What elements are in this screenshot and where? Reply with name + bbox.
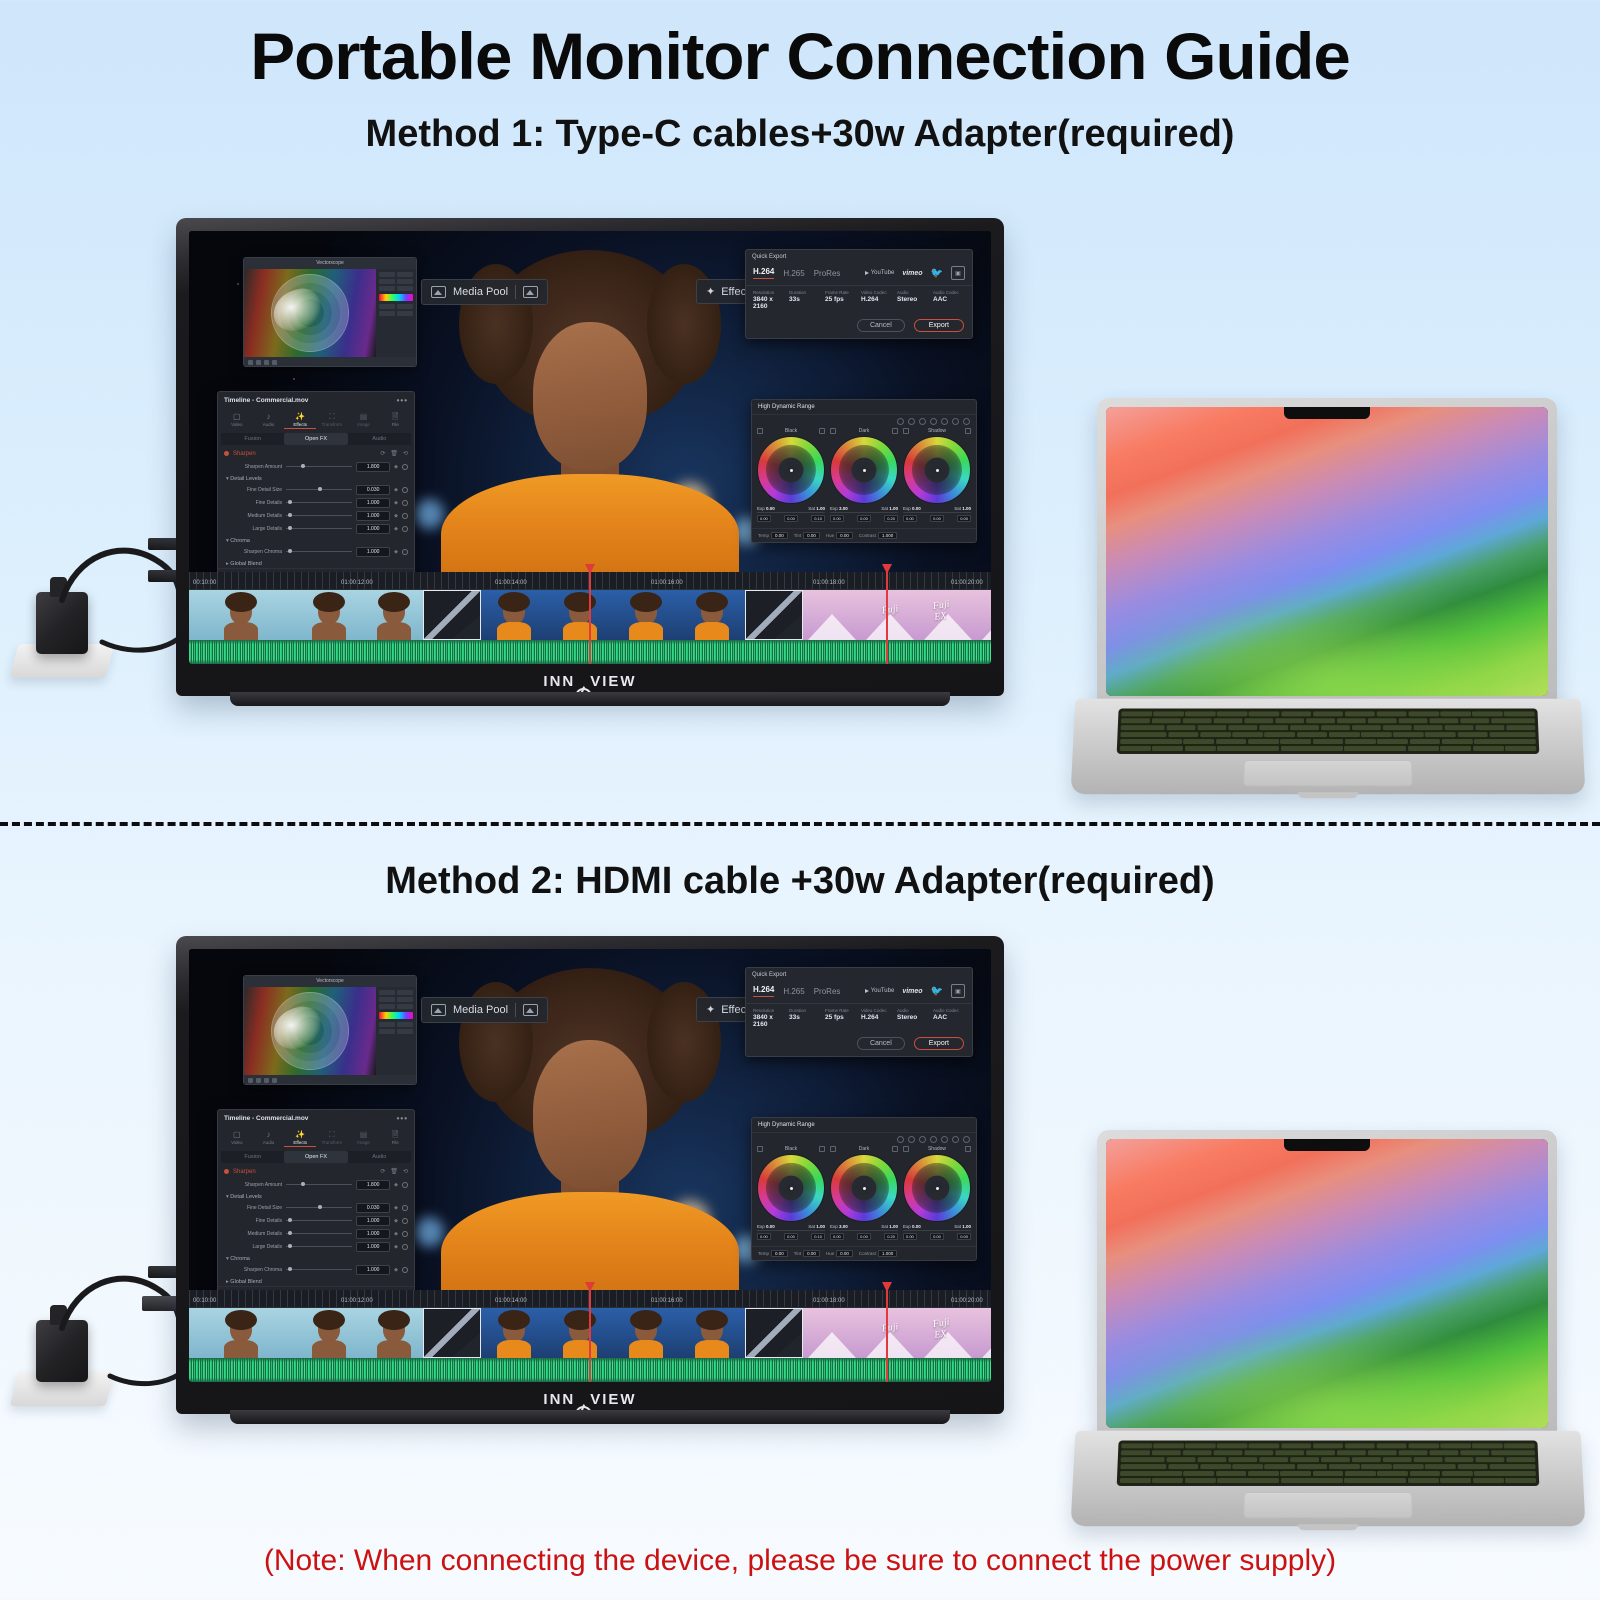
- param-sharpen-chroma[interactable]: Sharpen Chroma 1.000 ◆: [218, 545, 414, 558]
- inspector-tab-effects[interactable]: ✨ Effects: [284, 1129, 316, 1147]
- timecode: 01:00:20:00: [951, 1298, 983, 1304]
- inspector-panel[interactable]: Timeline - Commercial.mov ••• ▢ Video ♪ …: [217, 391, 415, 587]
- timeline-panel[interactable]: 00:10:00 01:00:12:00 01:00:14:00 01:00:1…: [189, 572, 991, 664]
- spec-resolution: Resolution 3840 x 2160: [753, 1008, 785, 1028]
- keyframe-icon[interactable]: ◆: [394, 464, 398, 470]
- effect-keyframe-icon[interactable]: ⟳: [380, 1168, 385, 1175]
- color-wheel-ring[interactable]: [830, 436, 898, 504]
- laptop-trackpad-2[interactable]: [1243, 1492, 1412, 1518]
- wheel-b-value[interactable]: 0.20: [884, 515, 898, 522]
- timeline-clip[interactable]: Fuji: [861, 590, 919, 640]
- effect-keyframe-icon[interactable]: ⟳: [380, 450, 385, 457]
- color-wheel-shadow[interactable]: Shadow Exp 0.00 Sat 1.00 0.00 0.00: [903, 428, 971, 524]
- vimeo-icon[interactable]: vimeo: [902, 988, 922, 995]
- quick-export-title: Quick Export: [746, 968, 972, 981]
- timeline-clip[interactable]: [189, 590, 293, 640]
- group-chroma[interactable]: Chroma: [218, 535, 414, 545]
- wheel-g-value[interactable]: 0.00: [930, 1233, 944, 1240]
- spec-video-codec: Video Codec H.264: [861, 1008, 893, 1028]
- timeline-clip[interactable]: [679, 590, 745, 640]
- hdr-tool-icon[interactable]: [952, 418, 959, 425]
- wheel-lock-icon[interactable]: [830, 428, 836, 434]
- group-global-blend[interactable]: Global Blend: [218, 1276, 414, 1286]
- subtab-audio[interactable]: Audio: [348, 1151, 411, 1163]
- vectorscope-title: Vectorscope: [244, 976, 416, 987]
- color-wheel-ring[interactable]: [757, 436, 825, 504]
- inspector-tab-effects[interactable]: ✨ Effects: [284, 411, 316, 429]
- video-icon: ▢: [221, 1129, 253, 1140]
- timeline-playhead-secondary[interactable]: [886, 1286, 888, 1382]
- quick-export-panel[interactable]: Quick Export H.264 H.265 ProRes YouTube …: [745, 249, 973, 339]
- hdr-tool-icon[interactable]: [963, 1136, 970, 1143]
- wheel-name: Shadow: [928, 1146, 946, 1152]
- wheel-lock-icon[interactable]: [903, 1146, 909, 1152]
- media-pool-button[interactable]: Media Pool: [421, 997, 548, 1023]
- param-fine-details[interactable]: Fine Details 1.000 ◆: [218, 496, 414, 509]
- youtube-icon[interactable]: YouTube: [865, 988, 895, 994]
- inspector-tab-image[interactable]: ▤ Image: [348, 411, 380, 429]
- timeline-clip[interactable]: [613, 1308, 679, 1358]
- reset-icon[interactable]: [402, 513, 408, 519]
- export-format-prores[interactable]: ProRes: [814, 987, 841, 996]
- spec-video-codec: Video Codec H.264: [861, 290, 893, 310]
- color-wheel-shadow[interactable]: Shadow Exp 0.00 Sat 1.00 0.00 0.00: [903, 1146, 971, 1242]
- media-pool-button[interactable]: Media Pool: [421, 279, 548, 305]
- wheel-g-value[interactable]: 0.00: [857, 1233, 871, 1240]
- color-wheel-ring[interactable]: [903, 436, 971, 504]
- hdr-hue: Hue0.00: [826, 1251, 853, 1256]
- spec-resolution: Resolution 3840 x 2160: [753, 290, 785, 310]
- spec-duration: Duration 33s: [789, 290, 821, 310]
- wheel-reset-icon[interactable]: [965, 1146, 971, 1152]
- hdr-hue: Hue0.00: [826, 533, 853, 538]
- media-pool-label: Media Pool: [453, 1004, 508, 1016]
- timeline-clip[interactable]: [293, 590, 365, 640]
- wheel-r-value[interactable]: 0.00: [830, 515, 844, 522]
- quick-export-panel[interactable]: Quick Export H.264 H.265 ProRes YouTube …: [745, 967, 973, 1057]
- wheel-r-value[interactable]: 0.00: [757, 1233, 771, 1240]
- keyframe-icon[interactable]: ◆: [394, 487, 398, 493]
- inspector-tab-transform[interactable]: ⛶ Transform: [316, 411, 348, 429]
- inspector-tab-video[interactable]: ▢ Video: [221, 1129, 253, 1147]
- subtab-audio[interactable]: Audio: [348, 433, 411, 445]
- keyframe-icon[interactable]: ◆: [394, 549, 398, 555]
- timeline-clip[interactable]: Fuji EX: [919, 1308, 977, 1358]
- wheel-reset-icon[interactable]: [965, 428, 971, 434]
- hdr-panel[interactable]: High Dynamic Range: [751, 399, 977, 543]
- reset-icon[interactable]: [402, 1231, 408, 1237]
- effect-delete-icon[interactable]: 🗑: [390, 1168, 398, 1175]
- export-format-h265[interactable]: H.265: [783, 987, 804, 996]
- media-pool-secondary-icon: [523, 1004, 538, 1016]
- export-button[interactable]: Export: [914, 1037, 964, 1050]
- monitor-brand-logo: INNVIEW: [176, 1391, 1004, 1408]
- group-chroma[interactable]: Chroma: [218, 1253, 414, 1263]
- slider-track[interactable]: [286, 466, 352, 467]
- param-large-details[interactable]: Large Details 1.000 ◆: [218, 1240, 414, 1253]
- group-detail-levels[interactable]: Detail Levels: [218, 473, 414, 483]
- wheel-reset-icon[interactable]: [819, 1146, 825, 1152]
- hdr-tool-icon[interactable]: [919, 418, 926, 425]
- inspector-tab-audio[interactable]: ♪ Audio: [253, 411, 285, 429]
- export-specs: Resolution 3840 x 2160 Duration 33s Fram…: [746, 285, 972, 315]
- wheel-b-value[interactable]: 0.00: [957, 1233, 971, 1240]
- timeline-clip[interactable]: [547, 590, 613, 640]
- spec-audio-codec: Audio Codec AAC: [933, 290, 965, 310]
- hdr-tint: Tint0.00: [794, 1251, 820, 1256]
- hdr-toolbar[interactable]: [752, 1133, 976, 1146]
- wheel-name: Dark: [859, 428, 870, 434]
- hdr-tool-icon[interactable]: [941, 418, 948, 425]
- wheel-name: Shadow: [928, 428, 946, 434]
- reset-icon[interactable]: [402, 1205, 408, 1211]
- subtab-openfx[interactable]: Open FX: [284, 433, 347, 445]
- youtube-icon[interactable]: YouTube: [865, 270, 895, 276]
- laptop-notch: [1284, 1139, 1370, 1151]
- color-wheel-black[interactable]: Black Exp 0.00 Sat 1.00 0.00 0.00: [757, 1146, 825, 1242]
- laptop-screen-1: [1106, 407, 1548, 696]
- reset-icon[interactable]: [402, 500, 408, 506]
- inspector-tab-transform[interactable]: ⛶ Transform: [316, 1129, 348, 1147]
- hdr-tool-icon[interactable]: [897, 1136, 904, 1143]
- timecode: 00:10:00: [193, 580, 216, 586]
- hdr-tool-icon[interactable]: [963, 418, 970, 425]
- wheel-name: Black: [785, 1146, 797, 1152]
- wheel-reset-icon[interactable]: [892, 1146, 898, 1152]
- export-button[interactable]: Export: [914, 319, 964, 332]
- wheel-b-value[interactable]: 0.10: [811, 1233, 825, 1240]
- timeline-clip[interactable]: [365, 1308, 423, 1358]
- subtab-openfx[interactable]: Open FX: [284, 1151, 347, 1163]
- timeline-panel[interactable]: 00:10:00 01:00:12:00 01:00:14:00 01:00:1…: [189, 1290, 991, 1382]
- timeline-clip[interactable]: [365, 590, 423, 640]
- timeline-clip[interactable]: [803, 1308, 861, 1358]
- effect-reset-icon[interactable]: ⟲: [403, 450, 408, 457]
- subtab-fusion[interactable]: Fusion: [221, 1151, 284, 1163]
- hdr-panel[interactable]: High Dynamic Range: [751, 1117, 977, 1261]
- inspector-panel[interactable]: Timeline - Commercial.mov ••• ▢ Video ♪ …: [217, 1109, 415, 1305]
- hdr-tool-icon[interactable]: [908, 418, 915, 425]
- timeline-playhead[interactable]: [589, 568, 591, 664]
- wheel-r-value[interactable]: 0.00: [830, 1233, 844, 1240]
- laptop-keyboard-1[interactable]: [1117, 708, 1540, 753]
- param-medium-details[interactable]: Medium Details 1.000 ◆: [218, 1227, 414, 1240]
- inspector-tab-audio[interactable]: ♪ Audio: [253, 1129, 285, 1147]
- reset-icon[interactable]: [402, 1182, 408, 1188]
- hdr-contrast: Contrast1.000: [859, 533, 897, 538]
- timecode: 01:00:20:00: [951, 580, 983, 586]
- transform-icon: ⛶: [316, 411, 348, 422]
- keyframe-icon[interactable]: ◆: [394, 500, 398, 506]
- reset-icon[interactable]: [402, 1244, 408, 1250]
- timeline-clip[interactable]: [803, 590, 861, 640]
- hdr-tool-icon[interactable]: [919, 1136, 926, 1143]
- hdr-title: High Dynamic Range: [752, 1118, 976, 1133]
- wheel-g-value[interactable]: 0.00: [784, 1233, 798, 1240]
- inspector-menu-icon[interactable]: •••: [397, 396, 408, 405]
- wheel-b-value[interactable]: 0.20: [884, 1233, 898, 1240]
- hdr-tool-icon[interactable]: [952, 1136, 959, 1143]
- color-wheel-ring[interactable]: [757, 1154, 825, 1222]
- keyframe-icon[interactable]: ◆: [394, 526, 398, 532]
- color-wheel-black[interactable]: Black Exp 0.00 Sat 1.00 0.00 0.00: [757, 428, 825, 524]
- hdr-footer[interactable]: Temp0.00 Tint0.00 Hue0.00 Contrast1.000: [752, 528, 976, 542]
- file-icon: 🗎: [379, 1129, 411, 1140]
- param-medium-details[interactable]: Medium Details 1.000 ◆: [218, 509, 414, 522]
- monitor-stand-2: [230, 1410, 950, 1424]
- timecode: 01:00:18:00: [813, 1298, 845, 1304]
- color-wheel-dark[interactable]: Dark Exp 3.00 Sat 1.00 0.00 0.00: [830, 1146, 898, 1242]
- inspector-title: Timeline - Commercial.mov: [224, 1115, 308, 1122]
- inspector-tab-file[interactable]: 🗎 File: [379, 1129, 411, 1147]
- slider-track[interactable]: [286, 502, 352, 503]
- vectorscope-controls[interactable]: [376, 987, 416, 1075]
- keyframe-icon[interactable]: ◆: [394, 1205, 398, 1211]
- wheel-reset-icon[interactable]: [892, 428, 898, 434]
- hdr-contrast: Contrast1.000: [859, 1251, 897, 1256]
- effect-header-sharpen[interactable]: Sharpen ⟳ 🗑 ⟲: [218, 1163, 414, 1178]
- timeline-clip[interactable]: [679, 1308, 745, 1358]
- twitter-icon[interactable]: 🐦: [931, 268, 943, 279]
- magic-wand-icon: ✦: [706, 1003, 715, 1016]
- slider-track[interactable]: [286, 1184, 352, 1185]
- wheel-r-value[interactable]: 0.00: [903, 515, 917, 522]
- reset-icon[interactable]: [402, 549, 408, 555]
- timeline-clip[interactable]: Fuji: [861, 1308, 919, 1358]
- media-pool-label: Media Pool: [453, 286, 508, 298]
- param-fine-details[interactable]: Fine Details 1.000 ◆: [218, 1214, 414, 1227]
- page-title: Portable Monitor Connection Guide: [0, 0, 1600, 91]
- method-2-scene: Vectorscope: [0, 918, 1600, 1518]
- audio-icon: ♪: [253, 411, 285, 422]
- spec-duration: Duration 33s: [789, 1008, 821, 1028]
- slider-track[interactable]: [286, 551, 352, 552]
- laptop-keyboard-2[interactable]: [1117, 1440, 1540, 1485]
- spec-audio-codec: Audio Codec AAC: [933, 1008, 965, 1028]
- hdr-toolbar[interactable]: [752, 415, 976, 428]
- timeline-transition[interactable]: [745, 590, 803, 640]
- slider-track[interactable]: [286, 1207, 352, 1208]
- media-pool-secondary-icon: [523, 286, 538, 298]
- spec-audio: Audio Stereo: [897, 1008, 929, 1028]
- inspector-tab-video[interactable]: ▢ Video: [221, 411, 253, 429]
- inspector-title: Timeline - Commercial.mov: [224, 397, 308, 404]
- export-specs: Resolution 3840 x 2160 Duration 33s Fram…: [746, 1003, 972, 1033]
- slider-track[interactable]: [286, 1220, 352, 1221]
- export-box-icon[interactable]: ▣: [951, 266, 965, 280]
- section-divider: [0, 822, 1600, 826]
- laptop-screen-2: [1106, 1139, 1548, 1428]
- laptop-1: [1073, 398, 1583, 798]
- media-pool-icon: [431, 1004, 446, 1016]
- method-2-title: Method 2: HDMI cable +30w Adapter(requir…: [0, 860, 1600, 903]
- timeline-transition[interactable]: [423, 1308, 481, 1358]
- timeline-clip[interactable]: [613, 590, 679, 640]
- vectorscope-controls[interactable]: [376, 269, 416, 357]
- vectorscope-window[interactable]: Vectorscope: [243, 257, 417, 367]
- param-fine-detail-size[interactable]: Fine Detail Size 0.030 ◆: [218, 483, 414, 496]
- reset-icon[interactable]: [402, 526, 408, 532]
- laptop-2: [1073, 1130, 1583, 1530]
- spec-framerate: Frame Rate 25 fps: [825, 290, 857, 310]
- wheel-lock-icon[interactable]: [830, 1146, 836, 1152]
- timeline-playhead-secondary[interactable]: [886, 568, 888, 664]
- timeline-playhead[interactable]: [589, 1286, 591, 1382]
- hdr-tool-icon[interactable]: [930, 1136, 937, 1143]
- cancel-button[interactable]: Cancel: [857, 1037, 905, 1050]
- param-fine-detail-size[interactable]: Fine Detail Size 0.030 ◆: [218, 1201, 414, 1214]
- method-1-scene: Vectorscope: [0, 200, 1600, 800]
- inspector-tab-file[interactable]: 🗎 File: [379, 411, 411, 429]
- timeline-transition[interactable]: [423, 590, 481, 640]
- spec-framerate: Frame Rate 25 fps: [825, 1008, 857, 1028]
- twitter-icon[interactable]: 🐦: [931, 986, 943, 997]
- quick-export-title: Quick Export: [746, 250, 972, 263]
- timeline-clip[interactable]: [481, 590, 547, 640]
- laptop-base-1: [1071, 699, 1586, 794]
- effect-header-sharpen[interactable]: Sharpen ⟳ 🗑 ⟲: [218, 445, 414, 460]
- portable-monitor-1: Vectorscope: [176, 218, 1004, 696]
- effects-label: Effec: [721, 1004, 746, 1016]
- timeline-clip[interactable]: [547, 1308, 613, 1358]
- laptop-lid-1: [1097, 398, 1557, 708]
- wheel-lock-icon[interactable]: [903, 428, 909, 434]
- subtab-fusion[interactable]: Fusion: [221, 433, 284, 445]
- param-large-details[interactable]: Large Details 1.000 ◆: [218, 522, 414, 535]
- timecode: 01:00:14:00: [495, 1298, 527, 1304]
- wheel-r-value[interactable]: 0.00: [757, 515, 771, 522]
- timecode: 01:00:14:00: [495, 580, 527, 586]
- keyframe-icon[interactable]: ◆: [394, 1267, 398, 1273]
- wheel-reset-icon[interactable]: [819, 428, 825, 434]
- export-box-icon[interactable]: ▣: [951, 984, 965, 998]
- media-pool-icon: [431, 286, 446, 298]
- timeline-clip[interactable]: [481, 1308, 547, 1358]
- method-1-title: Method 1: Type-C cables+30w Adapter(requ…: [0, 113, 1600, 156]
- color-wheel-ring[interactable]: [830, 1154, 898, 1222]
- reset-icon[interactable]: [402, 1218, 408, 1224]
- audio-icon: ♪: [253, 1129, 285, 1140]
- slider-track[interactable]: [286, 1233, 352, 1234]
- image-icon: ▤: [348, 411, 380, 422]
- reset-icon[interactable]: [402, 464, 408, 470]
- keyframe-icon[interactable]: ◆: [394, 513, 398, 519]
- effect-enable-toggle[interactable]: [224, 1169, 229, 1174]
- wheel-g-value[interactable]: 0.00: [784, 515, 798, 522]
- reset-icon[interactable]: [402, 1267, 408, 1273]
- group-global-blend[interactable]: Global Blend: [218, 558, 414, 568]
- timeline-clip[interactable]: [977, 590, 991, 640]
- slider-track[interactable]: [286, 515, 352, 516]
- wheel-lock-icon[interactable]: [757, 1146, 763, 1152]
- vectorscope-canvas: [244, 987, 376, 1075]
- vectorscope-title: Vectorscope: [244, 258, 416, 269]
- laptop-base-2: [1071, 1431, 1586, 1526]
- power-supply-note: (Note: When connecting the device, pleas…: [0, 1544, 1600, 1578]
- wheel-r-value[interactable]: 0.00: [903, 1233, 917, 1240]
- timeline-transition[interactable]: [745, 1308, 803, 1358]
- effects-label: Effec: [721, 286, 746, 298]
- timecode: 00:10:00: [193, 1298, 216, 1304]
- laptop-trackpad-1[interactable]: [1243, 760, 1412, 786]
- hdr-temp: Temp0.00: [758, 1251, 788, 1256]
- timeline-clip[interactable]: [977, 1308, 991, 1358]
- keyframe-icon[interactable]: ◆: [394, 1231, 398, 1237]
- inspector-menu-icon[interactable]: •••: [397, 1114, 408, 1123]
- wheel-lock-icon[interactable]: [757, 428, 763, 434]
- vectorscope-footer[interactable]: [244, 357, 416, 367]
- effect-reset-icon[interactable]: ⟲: [403, 1168, 408, 1175]
- hdr-tool-icon[interactable]: [930, 418, 937, 425]
- magic-wand-icon: ✦: [706, 285, 715, 298]
- effect-name: Sharpen: [233, 1169, 256, 1175]
- param-sharpen-amount[interactable]: Sharpen Amount 1.800 ◆: [218, 460, 414, 473]
- timeline-clip[interactable]: Fuji EX: [919, 590, 977, 640]
- vectorscope-footer[interactable]: [244, 1075, 416, 1085]
- param-sharpen-amount[interactable]: Sharpen Amount 1.800 ◆: [218, 1178, 414, 1191]
- hdr-tool-icon[interactable]: [941, 1136, 948, 1143]
- spec-audio: Audio Stereo: [897, 290, 929, 310]
- color-spectrum-bar: [379, 294, 413, 301]
- timecode: 01:00:12:00: [341, 1298, 373, 1304]
- keyframe-icon[interactable]: ◆: [394, 1218, 398, 1224]
- slider-track[interactable]: [286, 528, 352, 529]
- cancel-button[interactable]: Cancel: [857, 319, 905, 332]
- export-format-prores[interactable]: ProRes: [814, 269, 841, 278]
- hdr-footer[interactable]: Temp0.00 Tint0.00 Hue0.00 Contrast1.000: [752, 1246, 976, 1260]
- param-sharpen-chroma[interactable]: Sharpen Chroma 1.000 ◆: [218, 1263, 414, 1276]
- inspector-tab-image[interactable]: ▤ Image: [348, 1129, 380, 1147]
- image-icon: ▤: [348, 1129, 380, 1140]
- laptop-lid-2: [1097, 1130, 1557, 1440]
- wheel-name: Dark: [859, 1146, 870, 1152]
- slider-track[interactable]: [286, 1269, 352, 1270]
- wheel-g-value[interactable]: 0.00: [857, 515, 871, 522]
- keyframe-icon[interactable]: ◆: [394, 1244, 398, 1250]
- wheel-name: Black: [785, 428, 797, 434]
- timeline-clip[interactable]: [293, 1308, 365, 1358]
- timecode: 01:00:18:00: [813, 580, 845, 586]
- slider-track[interactable]: [286, 489, 352, 490]
- vectorscope-window[interactable]: Vectorscope: [243, 975, 417, 1085]
- wheel-b-value[interactable]: 0.10: [811, 515, 825, 522]
- wheel-b-value[interactable]: 0.00: [957, 515, 971, 522]
- hdr-tool-icon[interactable]: [897, 418, 904, 425]
- export-format-h265[interactable]: H.265: [783, 269, 804, 278]
- effect-name: Sharpen: [233, 451, 256, 457]
- file-icon: 🗎: [379, 411, 411, 422]
- reset-icon[interactable]: [402, 487, 408, 493]
- portable-monitor-2: Vectorscope: [176, 936, 1004, 1414]
- effect-delete-icon[interactable]: 🗑: [390, 450, 398, 457]
- monitor-screen-1: Vectorscope: [189, 231, 991, 664]
- timeline-clip[interactable]: [189, 1308, 293, 1358]
- export-format-h264[interactable]: H.264: [753, 985, 774, 997]
- keyframe-icon[interactable]: ◆: [394, 1182, 398, 1188]
- monitor-stand-1: [230, 692, 950, 706]
- slider-track[interactable]: [286, 1246, 352, 1247]
- export-format-h264[interactable]: H.264: [753, 267, 774, 279]
- group-detail-levels[interactable]: Detail Levels: [218, 1191, 414, 1201]
- vectorscope-canvas: [244, 269, 376, 357]
- color-wheel-dark[interactable]: Dark Exp 3.00 Sat 1.00 0.00 0.00: [830, 428, 898, 524]
- vimeo-icon[interactable]: vimeo: [902, 270, 922, 277]
- effect-enable-toggle[interactable]: [224, 451, 229, 456]
- hdr-tool-icon[interactable]: [908, 1136, 915, 1143]
- effects-icon: ✨: [284, 411, 316, 422]
- wheel-g-value[interactable]: 0.00: [930, 515, 944, 522]
- color-wheel-ring[interactable]: [903, 1154, 971, 1222]
